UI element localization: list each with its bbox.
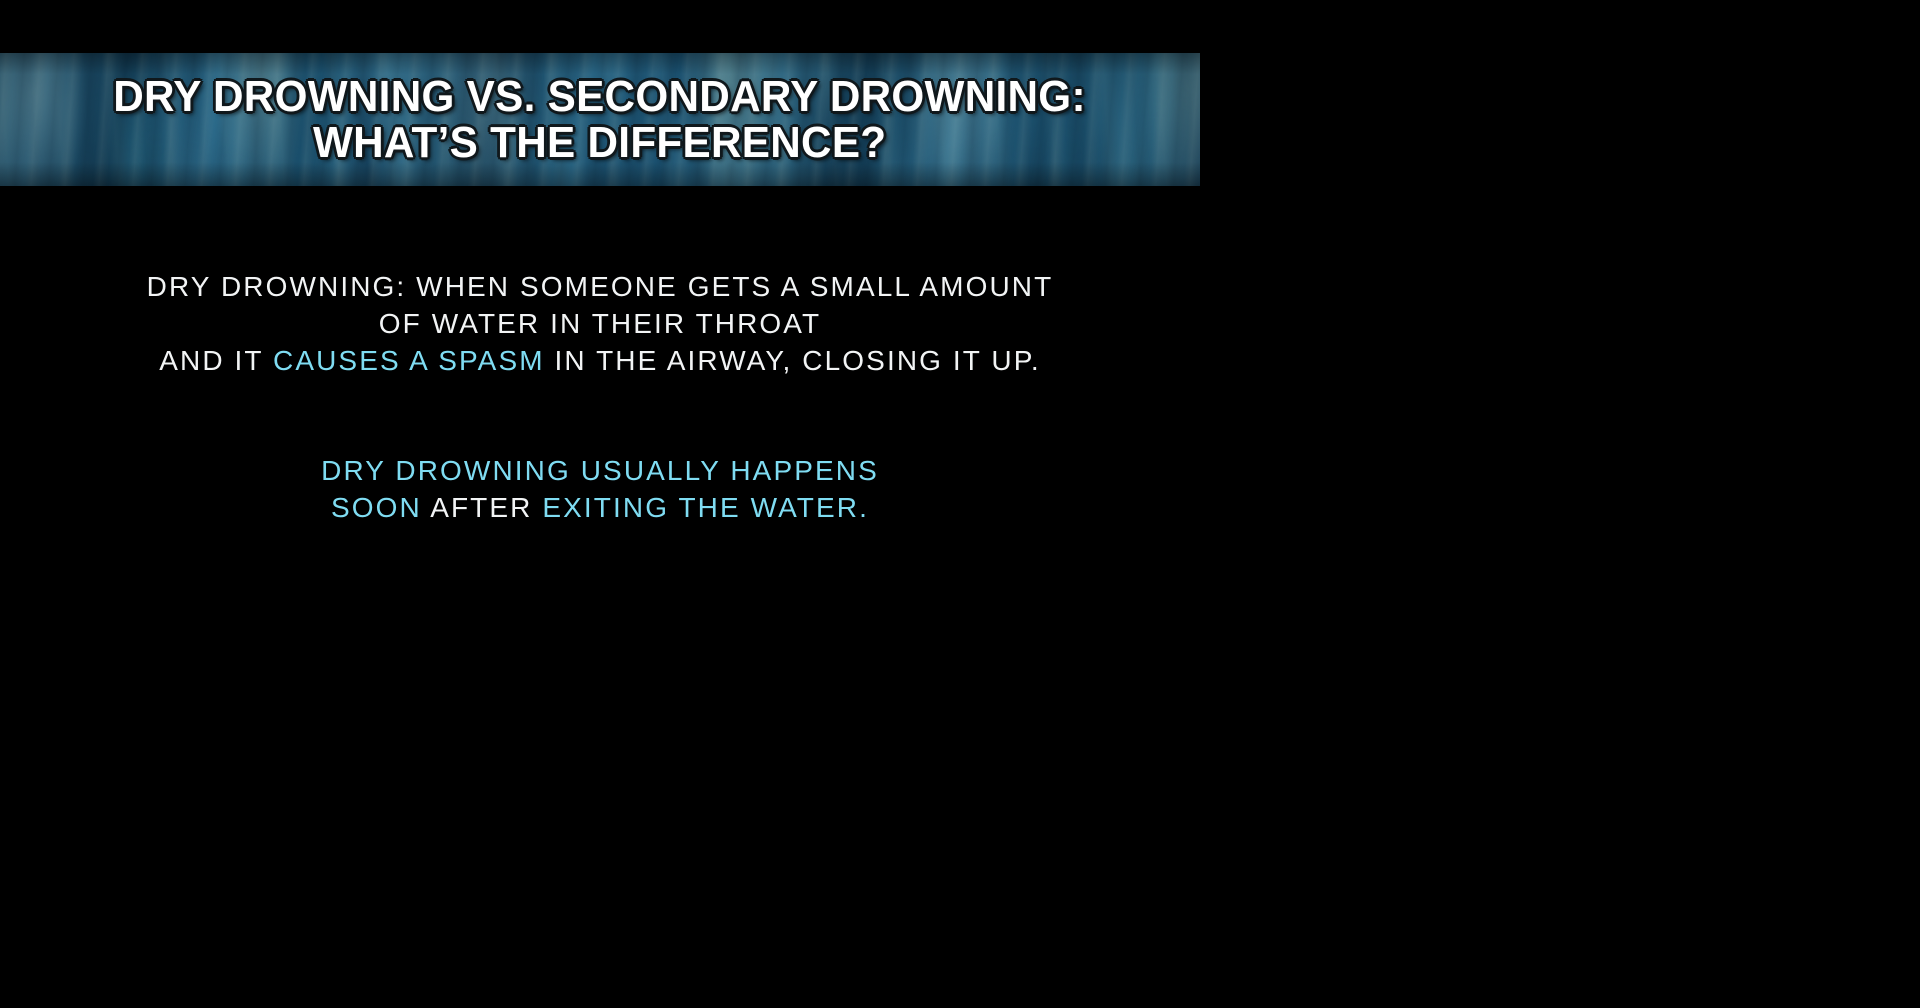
primary-paragraph-line-1: DRY DROWNING: WHEN SOMEONE GETS A SMALL … bbox=[0, 268, 1200, 305]
primary-paragraph-line-2: OF WATER IN THEIR THROAT bbox=[0, 305, 1200, 342]
secondary-paragraph-line-2: SOON AFTER EXITING THE WATER. bbox=[0, 489, 1200, 526]
secondary-paragraph-line-1: DRY DROWNING USUALLY HAPPENS bbox=[0, 452, 1200, 489]
secondary-line-2-prefix: SOON bbox=[331, 492, 422, 523]
title-banner: DRY DROWNING VS. SECONDARY DROWNING: WHA… bbox=[0, 53, 1200, 186]
secondary-line-2-suffix: EXITING THE WATER. bbox=[542, 492, 869, 523]
banner-title-line-1: DRY DROWNING VS. SECONDARY DROWNING: bbox=[114, 75, 1087, 118]
primary-line-3-suffix: IN THE AIRWAY, CLOSING IT UP. bbox=[545, 345, 1041, 376]
banner-title: DRY DROWNING VS. SECONDARY DROWNING: WHA… bbox=[0, 53, 1200, 186]
primary-line-2-text: OF WATER IN THEIR THROAT bbox=[379, 308, 821, 339]
primary-paragraph: DRY DROWNING: WHEN SOMEONE GETS A SMALL … bbox=[0, 268, 1200, 379]
secondary-line-2-middle: AFTER bbox=[422, 492, 543, 523]
secondary-paragraph: DRY DROWNING USUALLY HAPPENS SOON AFTER … bbox=[0, 452, 1200, 526]
slide-canvas: DRY DROWNING VS. SECONDARY DROWNING: WHA… bbox=[0, 0, 1920, 1008]
primary-line-3-highlight: CAUSES A SPASM bbox=[273, 345, 545, 376]
banner-title-line-2: WHAT’S THE DIFFERENCE? bbox=[313, 121, 886, 164]
primary-line-3-prefix: AND IT bbox=[159, 345, 273, 376]
primary-line-1-text: DRY DROWNING: WHEN SOMEONE GETS A SMALL … bbox=[147, 271, 1054, 302]
secondary-line-1-text: DRY DROWNING USUALLY HAPPENS bbox=[321, 455, 879, 486]
primary-paragraph-line-3: AND IT CAUSES A SPASM IN THE AIRWAY, CLO… bbox=[0, 342, 1200, 379]
